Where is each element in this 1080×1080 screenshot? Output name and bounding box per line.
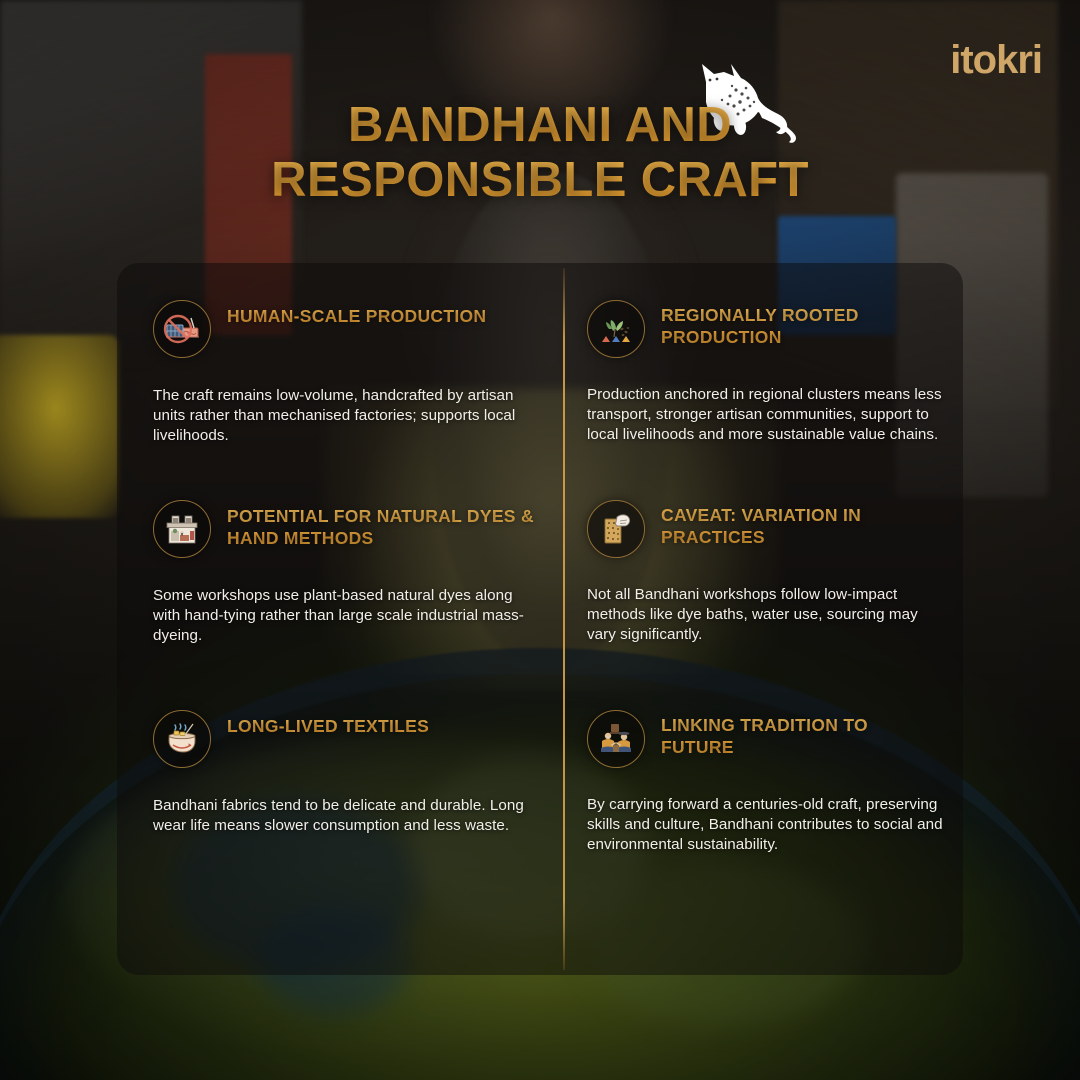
page-title: BANDHANI AND RESPONSIBLE CRAFT	[0, 98, 1080, 208]
brand-logo-text: itokri	[950, 40, 1042, 80]
card-long-lived-textiles: LONG-LIVED TEXTILES Bandhani fabrics ten…	[117, 673, 563, 975]
card-natural-dyes-hand-methods: POTENTIAL FOR NATURAL DYES & HAND METHOD…	[117, 463, 563, 673]
hand-holding-patterned-fabric-icon	[587, 500, 645, 558]
cards-grid: HUMAN-SCALE PRODUCTION The craft remains…	[117, 263, 963, 975]
two-seated-artisans-icon	[587, 710, 645, 768]
card-title: REGIONALLY ROOTED PRODUCTION	[661, 300, 945, 349]
card-human-scale-production: HUMAN-SCALE PRODUCTION The craft remains…	[117, 263, 563, 463]
plant-seedling-dye-mounds-icon	[587, 300, 645, 358]
card-body: By carrying forward a centuries-old craf…	[587, 795, 945, 854]
card-title: LONG-LIVED TEXTILES	[227, 710, 429, 738]
no-factory-machine-icon	[153, 300, 211, 358]
card-body: Not all Bandhani workshops follow low-im…	[587, 585, 945, 644]
card-header: HUMAN-SCALE PRODUCTION	[153, 300, 541, 358]
card-regionally-rooted-production: REGIONALLY ROOTED PRODUCTION Production …	[563, 263, 963, 463]
card-header: LONG-LIVED TEXTILES	[153, 710, 541, 768]
card-body: Production anchored in regional clusters…	[587, 385, 945, 444]
page-title-line-2: RESPONSIBLE CRAFT	[150, 153, 930, 208]
card-header: REGIONALLY ROOTED PRODUCTION	[587, 300, 945, 358]
card-header: POTENTIAL FOR NATURAL DYES & HAND METHOD…	[153, 500, 541, 558]
card-linking-tradition-to-future: LINKING TRADITION TO FUTURE By carrying …	[563, 673, 963, 975]
card-caveat-variation-in-practices: CAVEAT: VARIATION IN PRACTICES Not all B…	[563, 463, 963, 673]
brand-logo: itokri	[950, 40, 1042, 80]
card-body: Some workshops use plant-based natural d…	[153, 586, 541, 645]
card-title: CAVEAT: VARIATION IN PRACTICES	[661, 500, 945, 549]
artisan-workshop-building-icon	[153, 500, 211, 558]
card-body: Bandhani fabrics tend to be delicate and…	[153, 796, 541, 836]
card-title: POTENTIAL FOR NATURAL DYES & HAND METHOD…	[227, 500, 541, 550]
card-title: LINKING TRADITION TO FUTURE	[661, 710, 945, 759]
card-title: HUMAN-SCALE PRODUCTION	[227, 300, 486, 328]
card-header: LINKING TRADITION TO FUTURE	[587, 710, 945, 768]
steaming-dye-pot-icon	[153, 710, 211, 768]
card-body: The craft remains low-volume, handcrafte…	[153, 386, 541, 445]
card-header: CAVEAT: VARIATION IN PRACTICES	[587, 500, 945, 558]
page-title-line-1: BANDHANI AND	[150, 98, 930, 153]
